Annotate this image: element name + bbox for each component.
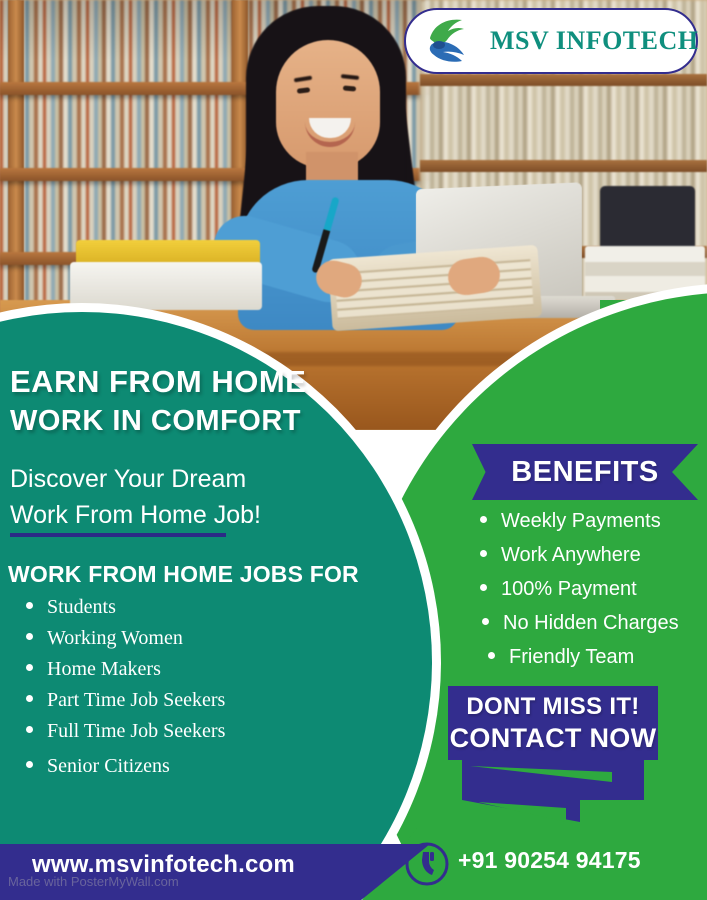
- subheadline-line-2: Work From Home Job!: [10, 498, 340, 534]
- list-item: Working Women: [26, 627, 366, 658]
- bullet-icon: [488, 652, 495, 659]
- jobs-section-title: WORK FROM HOME JOBS FOR: [8, 561, 388, 588]
- benefits-title: BENEFITS: [511, 456, 658, 489]
- list-item: Students: [26, 596, 366, 627]
- list-item: Weekly Payments: [480, 510, 706, 544]
- jobs-item-label: Senior Citizens: [47, 755, 170, 778]
- bullet-icon: [26, 761, 33, 768]
- list-item: 100% Payment: [480, 578, 706, 612]
- brand-name: MSV INFOTECH: [490, 26, 699, 56]
- subheadline-line-1: Discover Your Dream: [10, 462, 340, 498]
- bullet-icon: [26, 602, 33, 609]
- bullet-icon: [26, 726, 33, 733]
- benefits-item-label: 100% Payment: [501, 578, 637, 601]
- bullet-icon: [480, 516, 487, 523]
- phone-circle-icon: [403, 840, 451, 888]
- list-item: Home Makers: [26, 658, 366, 689]
- footer-phone-number[interactable]: +91 90254 94175: [458, 847, 641, 874]
- poster-watermark: Made with PosterMyWall.com: [8, 874, 179, 889]
- shelf-rail: [420, 160, 707, 172]
- poster: MSV INFOTECH EARN FROM HOME WORK IN COMF…: [0, 0, 707, 900]
- list-item: Part Time Job Seekers: [26, 689, 366, 720]
- bullet-icon: [480, 550, 487, 557]
- eye: [343, 85, 356, 91]
- list-item: Friendly Team: [480, 646, 706, 680]
- jobs-item-label: Home Makers: [47, 658, 161, 681]
- benefits-item-label: Weekly Payments: [501, 510, 661, 533]
- bullet-icon: [480, 584, 487, 591]
- jobs-item-label: Working Women: [47, 627, 183, 650]
- cta-banner[interactable]: DONT MISS IT! CONTACT NOW: [448, 686, 658, 760]
- brand-logo[interactable]: MSV INFOTECH: [404, 8, 698, 74]
- student-face: [276, 40, 380, 168]
- benefits-item-label: No Hidden Charges: [503, 612, 679, 635]
- cta-line-2: CONTACT NOW: [450, 723, 657, 754]
- jobs-item-label: Part Time Job Seekers: [47, 689, 225, 712]
- benefits-ribbon: BENEFITS: [472, 444, 698, 500]
- jobs-list: Students Working Women Home Makers Part …: [26, 596, 366, 786]
- benefits-item-label: Friendly Team: [509, 646, 634, 669]
- bullet-icon: [482, 618, 489, 625]
- headline-line-1: EARN FROM HOME: [10, 364, 306, 399]
- list-item: Work Anywhere: [480, 544, 706, 578]
- benefits-list: Weekly Payments Work Anywhere 100% Payme…: [480, 510, 706, 680]
- list-item: No Hidden Charges: [480, 612, 706, 646]
- subheadline: Discover Your Dream Work From Home Job!: [10, 462, 340, 533]
- bullet-icon: [26, 695, 33, 702]
- jobs-item-label: Full Time Job Seekers: [47, 720, 225, 743]
- shelf-rail: [420, 74, 707, 86]
- headline: EARN FROM HOME WORK IN COMFORT: [10, 366, 370, 436]
- white-book: [70, 262, 262, 310]
- subheadline-underline: [10, 533, 226, 537]
- headline-line-2: WORK IN COMFORT: [10, 407, 370, 436]
- list-item: Full Time Job Seekers: [26, 720, 366, 755]
- cta-line-1: DONT MISS IT!: [466, 693, 639, 721]
- list-item: Senior Citizens: [26, 755, 366, 786]
- bullet-icon: [26, 664, 33, 671]
- benefits-item-label: Work Anywhere: [501, 544, 641, 567]
- jobs-item-label: Students: [47, 596, 116, 619]
- bullet-icon: [26, 633, 33, 640]
- swoosh-wave-logo-icon: [424, 14, 478, 68]
